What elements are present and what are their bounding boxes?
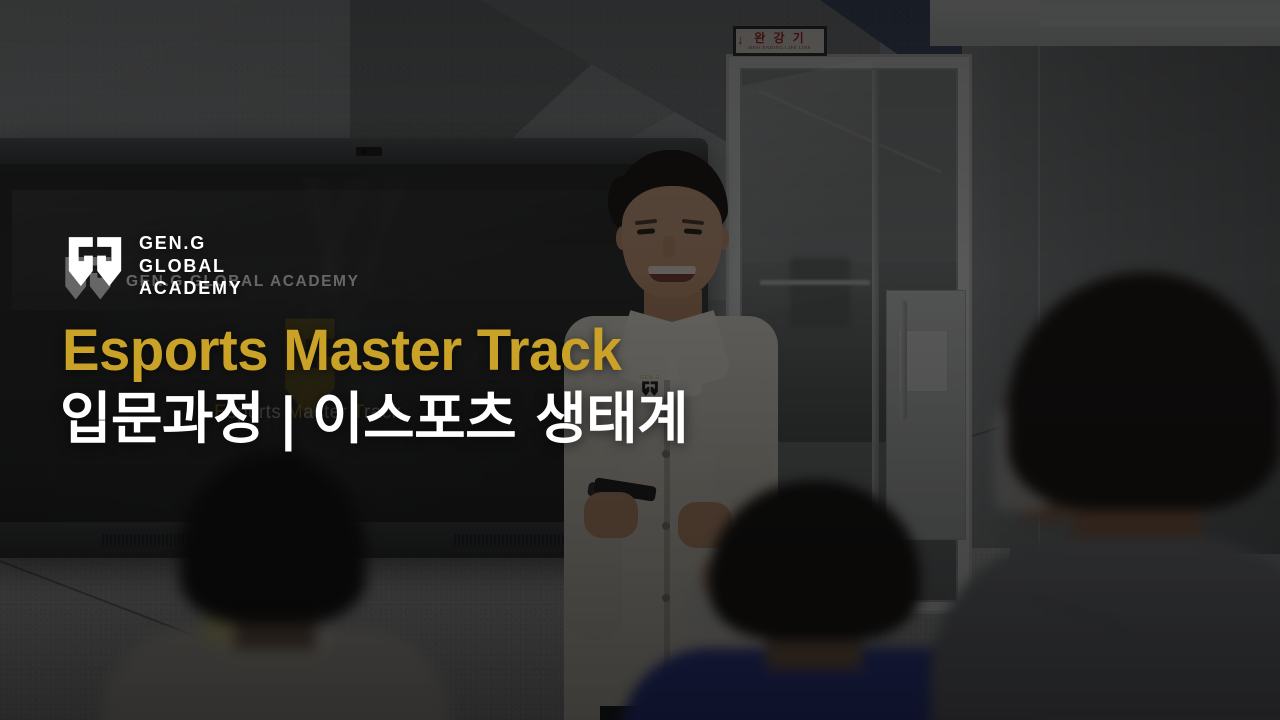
brand-badge-text: GEN.G GLOBAL ACADEMY: [139, 232, 243, 300]
title-overlay: GEN.G GLOBAL ACADEMY Esports Master Trac…: [0, 0, 1280, 720]
page-title: Esports Master Track: [62, 322, 621, 380]
subtitle-right: 이스포츠 생태계: [312, 387, 688, 452]
subtitle-left: 입문과정: [60, 387, 264, 452]
brand-badge: GEN.G GLOBAL ACADEMY: [66, 232, 243, 300]
subtitle-separator: |: [264, 387, 312, 452]
screenshot-root: 완 강 기 DESCENDING LIFE LINE ↓: [0, 0, 1280, 720]
page-subtitle: 입문과정|이스포츠 생태계: [60, 392, 688, 448]
geng-gg-shield-icon: [66, 236, 124, 296]
